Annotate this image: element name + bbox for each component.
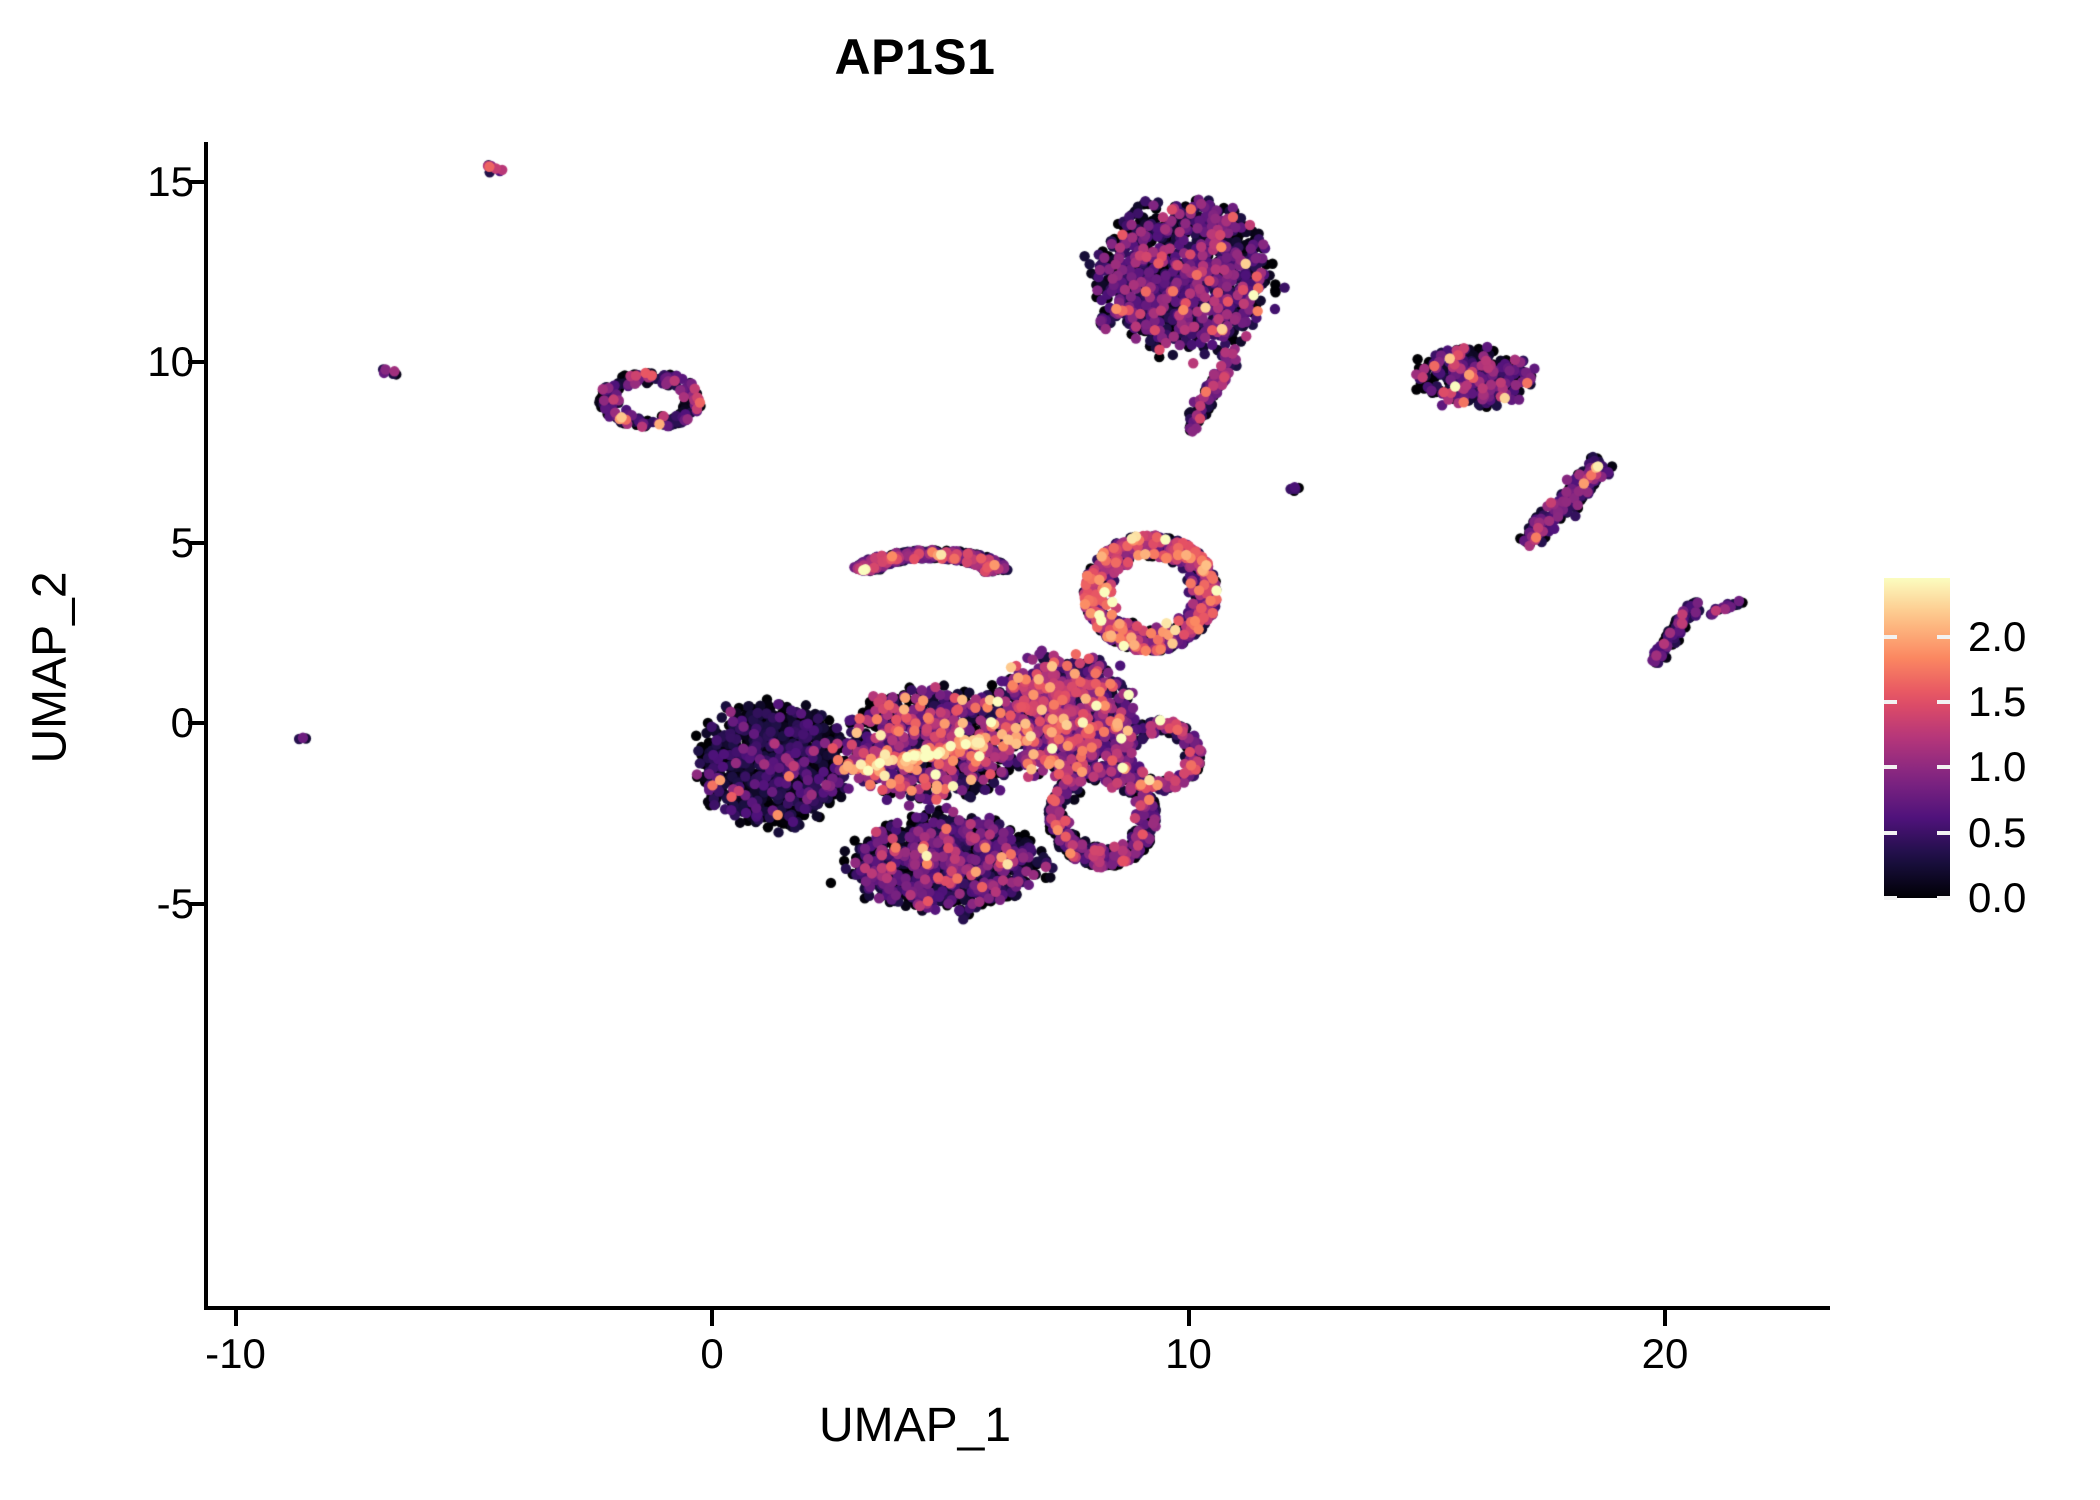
x-tick-label: -10 xyxy=(136,1330,336,1378)
colorbar-tick xyxy=(1937,896,1950,900)
colorbar-tick-label: 0.5 xyxy=(1968,809,2026,857)
colorbar-tick xyxy=(1884,896,1897,900)
umap-feature-plot: AP1S1 -5051015-1001020 UMAP_1 UMAP_2 0.0… xyxy=(0,0,2100,1500)
x-tick xyxy=(1187,1310,1191,1326)
colorbar-tick-label: 1.5 xyxy=(1968,678,2026,726)
x-tick-label: 10 xyxy=(1089,1330,1289,1378)
x-tick xyxy=(234,1310,238,1326)
x-tick-label: 20 xyxy=(1565,1330,1765,1378)
y-axis-line xyxy=(204,142,208,1310)
colorbar-tick xyxy=(1884,700,1897,704)
x-tick-label: 0 xyxy=(612,1330,812,1378)
colorbar-tick-label: 1.0 xyxy=(1968,743,2026,791)
colorbar-tick xyxy=(1884,635,1897,639)
x-tick xyxy=(710,1310,714,1326)
colorbar-tick xyxy=(1884,765,1897,769)
colorbar-tick xyxy=(1884,831,1897,835)
x-axis-title: UMAP_1 xyxy=(0,1398,1830,1453)
colorbar-legend: 0.00.51.01.52.0 xyxy=(1884,578,1950,898)
y-tick-label: 15 xyxy=(0,158,194,206)
colorbar-tick-label: 0.0 xyxy=(1968,874,2026,922)
colorbar-tick-label: 2.0 xyxy=(1968,613,2026,661)
x-axis-line xyxy=(204,1306,1830,1310)
colorbar-gradient xyxy=(1884,578,1950,898)
y-axis-title: UMAP_2 xyxy=(23,268,78,1068)
colorbar-tick xyxy=(1937,831,1950,835)
scatter-canvas xyxy=(0,0,2100,1500)
x-tick xyxy=(1663,1310,1667,1326)
colorbar-tick xyxy=(1937,765,1950,769)
colorbar-tick xyxy=(1937,635,1950,639)
colorbar-tick xyxy=(1937,700,1950,704)
